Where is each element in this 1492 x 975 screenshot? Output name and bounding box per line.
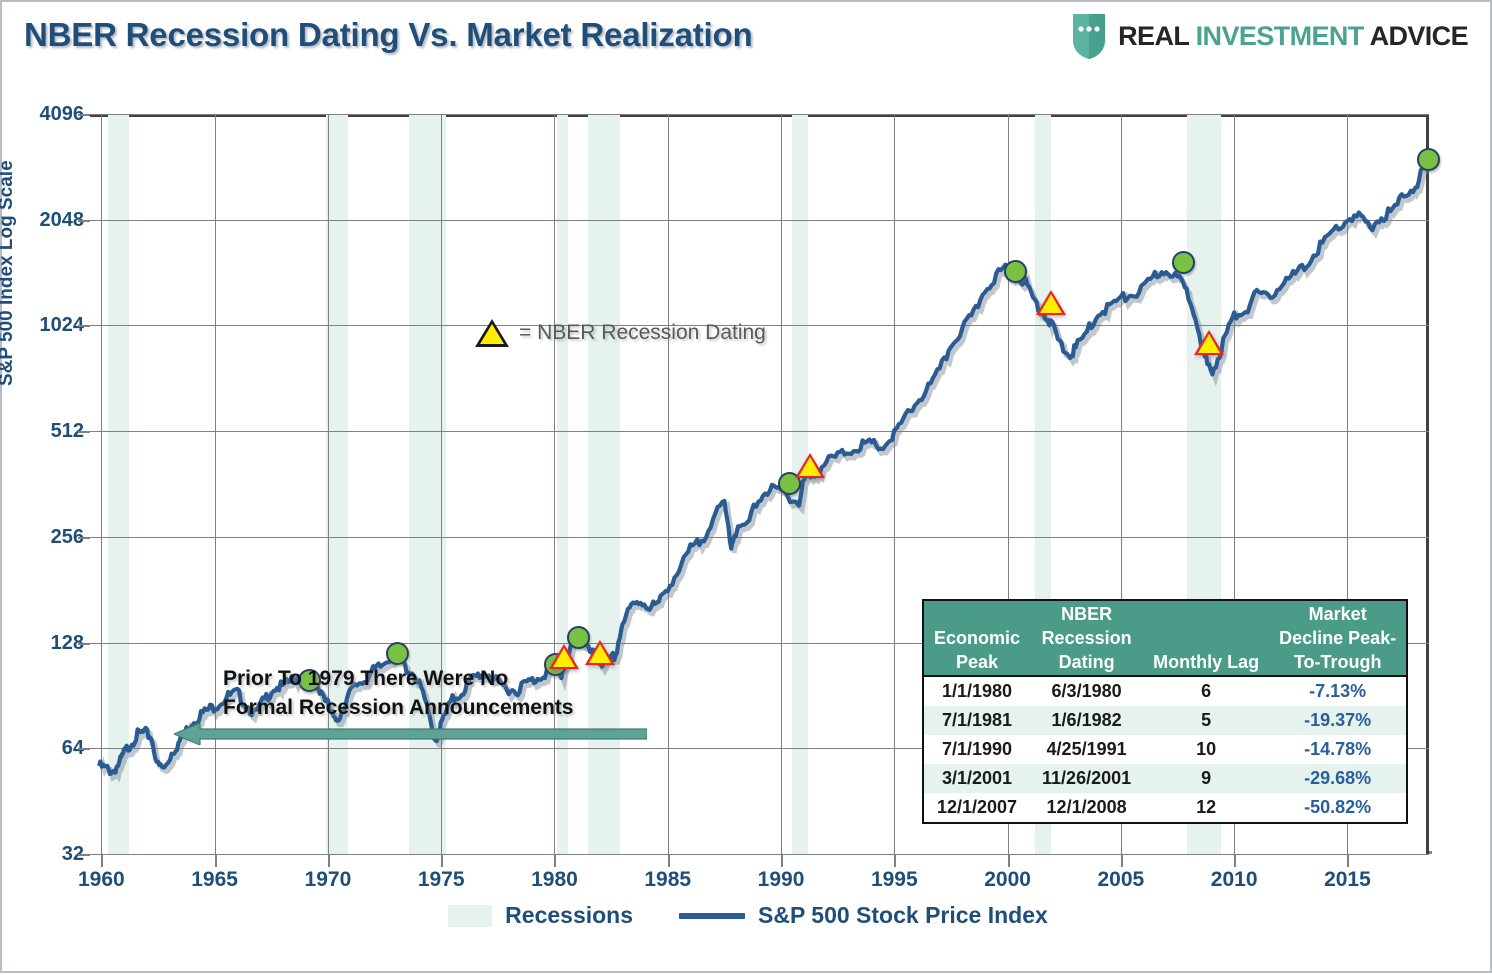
cell-nber-dating: 12/1/2008 (1030, 793, 1143, 823)
cell-market-decline: -50.82% (1269, 793, 1407, 823)
page-title: NBER Recession Dating Vs. Market Realiza… (24, 16, 752, 54)
legend-label-sp500: S&P 500 Stock Price Index (758, 902, 1048, 929)
x-tick-label: 1980 (509, 868, 599, 892)
cell-monthly-lag: 5 (1143, 706, 1269, 735)
chart-screenshot: NBER Recession Dating Vs. Market Realiza… (0, 0, 1492, 973)
y-tick-mark (78, 643, 90, 645)
cell-nber-dating: 6/3/1980 (1030, 676, 1143, 706)
x-tick-label: 1985 (623, 868, 713, 892)
prior-to-1979-arrow (174, 723, 647, 745)
y-tick-mark (78, 114, 90, 116)
cell-market-decline: -7.13% (1269, 676, 1407, 706)
chart-legend: Recessions S&P 500 Stock Price Index (2, 902, 1492, 929)
y-axis-title: S&P 500 Index Log Scale (0, 160, 18, 386)
legend-item-sp500: S&P 500 Stock Price Index (679, 902, 1048, 929)
header: NBER Recession Dating Vs. Market Realiza… (2, 2, 1490, 80)
cell-monthly-lag: 10 (1143, 735, 1269, 764)
legend-label-recessions: Recessions (505, 902, 633, 929)
x-tick-label: 2010 (1189, 868, 1279, 892)
x-tick-label: 2015 (1302, 868, 1392, 892)
cell-economic-peak: 12/1/2007 (923, 793, 1030, 823)
table-row: 3/1/200111/26/20019-29.68% (923, 764, 1407, 793)
table-head: Economic Peak NBER Recession Dating Mont… (923, 600, 1407, 676)
cell-monthly-lag: 6 (1143, 676, 1269, 706)
y-tick-mark (78, 854, 90, 856)
prior-to-1979-note: Prior To 1979 There Were NoFormal Recess… (223, 664, 573, 722)
nber-dating-marker (585, 640, 615, 665)
table-row: 12/1/200712/1/200812-50.82% (923, 793, 1407, 823)
column-header-market-decline: Market Decline Peak- To-Trough (1269, 600, 1407, 676)
nber-marker-key: = NBER Recession Dating (475, 319, 766, 347)
y-tick-label: 4096 (0, 103, 84, 126)
cell-nber-dating: 11/26/2001 (1030, 764, 1143, 793)
table-row: 1/1/19806/3/19806-7.13% (923, 676, 1407, 706)
column-header-monthly-lag: Monthly Lag (1143, 600, 1269, 676)
x-tick-label: 2000 (963, 868, 1053, 892)
x-tick-label: 1965 (170, 868, 260, 892)
cell-nber-dating: 1/6/1982 (1030, 706, 1143, 735)
brand-logo: REAL INVESTMENT ADVICE (1071, 12, 1468, 60)
cell-market-decline: -29.68% (1269, 764, 1407, 793)
cell-market-decline: -19.37% (1269, 706, 1407, 735)
logo-word-real: REAL (1118, 21, 1196, 51)
table-row: 7/1/19904/25/199110-14.78% (923, 735, 1407, 764)
cell-nber-dating: 4/25/1991 (1030, 735, 1143, 764)
cell-economic-peak: 7/1/1990 (923, 735, 1030, 764)
y-tick-mark (78, 431, 90, 433)
nber-dating-marker (795, 453, 825, 478)
column-header-nber-recession-dating: NBER Recession Dating (1030, 600, 1143, 676)
table-body: 1/1/19806/3/19806-7.13%7/1/19811/6/19825… (923, 676, 1407, 823)
x-tick-label: 1970 (283, 868, 373, 892)
y-tick-label: 128 (0, 632, 84, 655)
prior-note-line1: Prior To 1979 There Were No (223, 667, 508, 690)
y-tick-label: 64 (0, 737, 84, 760)
y-tick-mark (78, 220, 90, 222)
nber-summary-table: Economic Peak NBER Recession Dating Mont… (922, 599, 1408, 824)
x-tick-label: 1975 (396, 868, 486, 892)
y-tick-label: 512 (0, 420, 84, 443)
cell-economic-peak: 3/1/2001 (923, 764, 1030, 793)
cell-economic-peak: 7/1/1981 (923, 706, 1030, 735)
logo-word-advice: ADVICE (1370, 21, 1468, 51)
nber-triangle-icon (475, 319, 509, 347)
recession-swatch-icon (448, 905, 492, 927)
x-tick-label: 2005 (1076, 868, 1166, 892)
shield-dots-icon (1071, 12, 1107, 60)
y-tick-mark (78, 537, 90, 539)
y-tick-label: 32 (0, 843, 84, 866)
nber-dating-marker (1036, 290, 1066, 315)
y-tick-mark (78, 325, 90, 327)
nber-marker-key-label: = NBER Recession Dating (519, 321, 766, 345)
cell-monthly-lag: 12 (1143, 793, 1269, 823)
nber-dating-marker (1194, 330, 1224, 355)
series-line-icon (679, 913, 745, 919)
cell-monthly-lag: 9 (1143, 764, 1269, 793)
table-header-row: Economic Peak NBER Recession Dating Mont… (923, 600, 1407, 676)
x-tick-label: 1990 (736, 868, 826, 892)
economic-peak-marker (1417, 148, 1440, 171)
table-row: 7/1/19811/6/19825-19.37% (923, 706, 1407, 735)
y-tick-label: 256 (0, 526, 84, 549)
cell-market-decline: -14.78% (1269, 735, 1407, 764)
x-tick-label: 1995 (849, 868, 939, 892)
legend-item-recessions: Recessions (448, 902, 633, 929)
prior-note-line2: Formal Recession Announcements (223, 696, 573, 719)
column-header-economic-peak: Economic Peak (923, 600, 1030, 676)
y-tick-mark (78, 748, 90, 750)
brand-logo-text: REAL INVESTMENT ADVICE (1118, 21, 1468, 52)
x-tick-label: 1960 (56, 868, 146, 892)
cell-economic-peak: 1/1/1980 (923, 676, 1030, 706)
logo-word-investment: INVESTMENT (1196, 21, 1370, 51)
